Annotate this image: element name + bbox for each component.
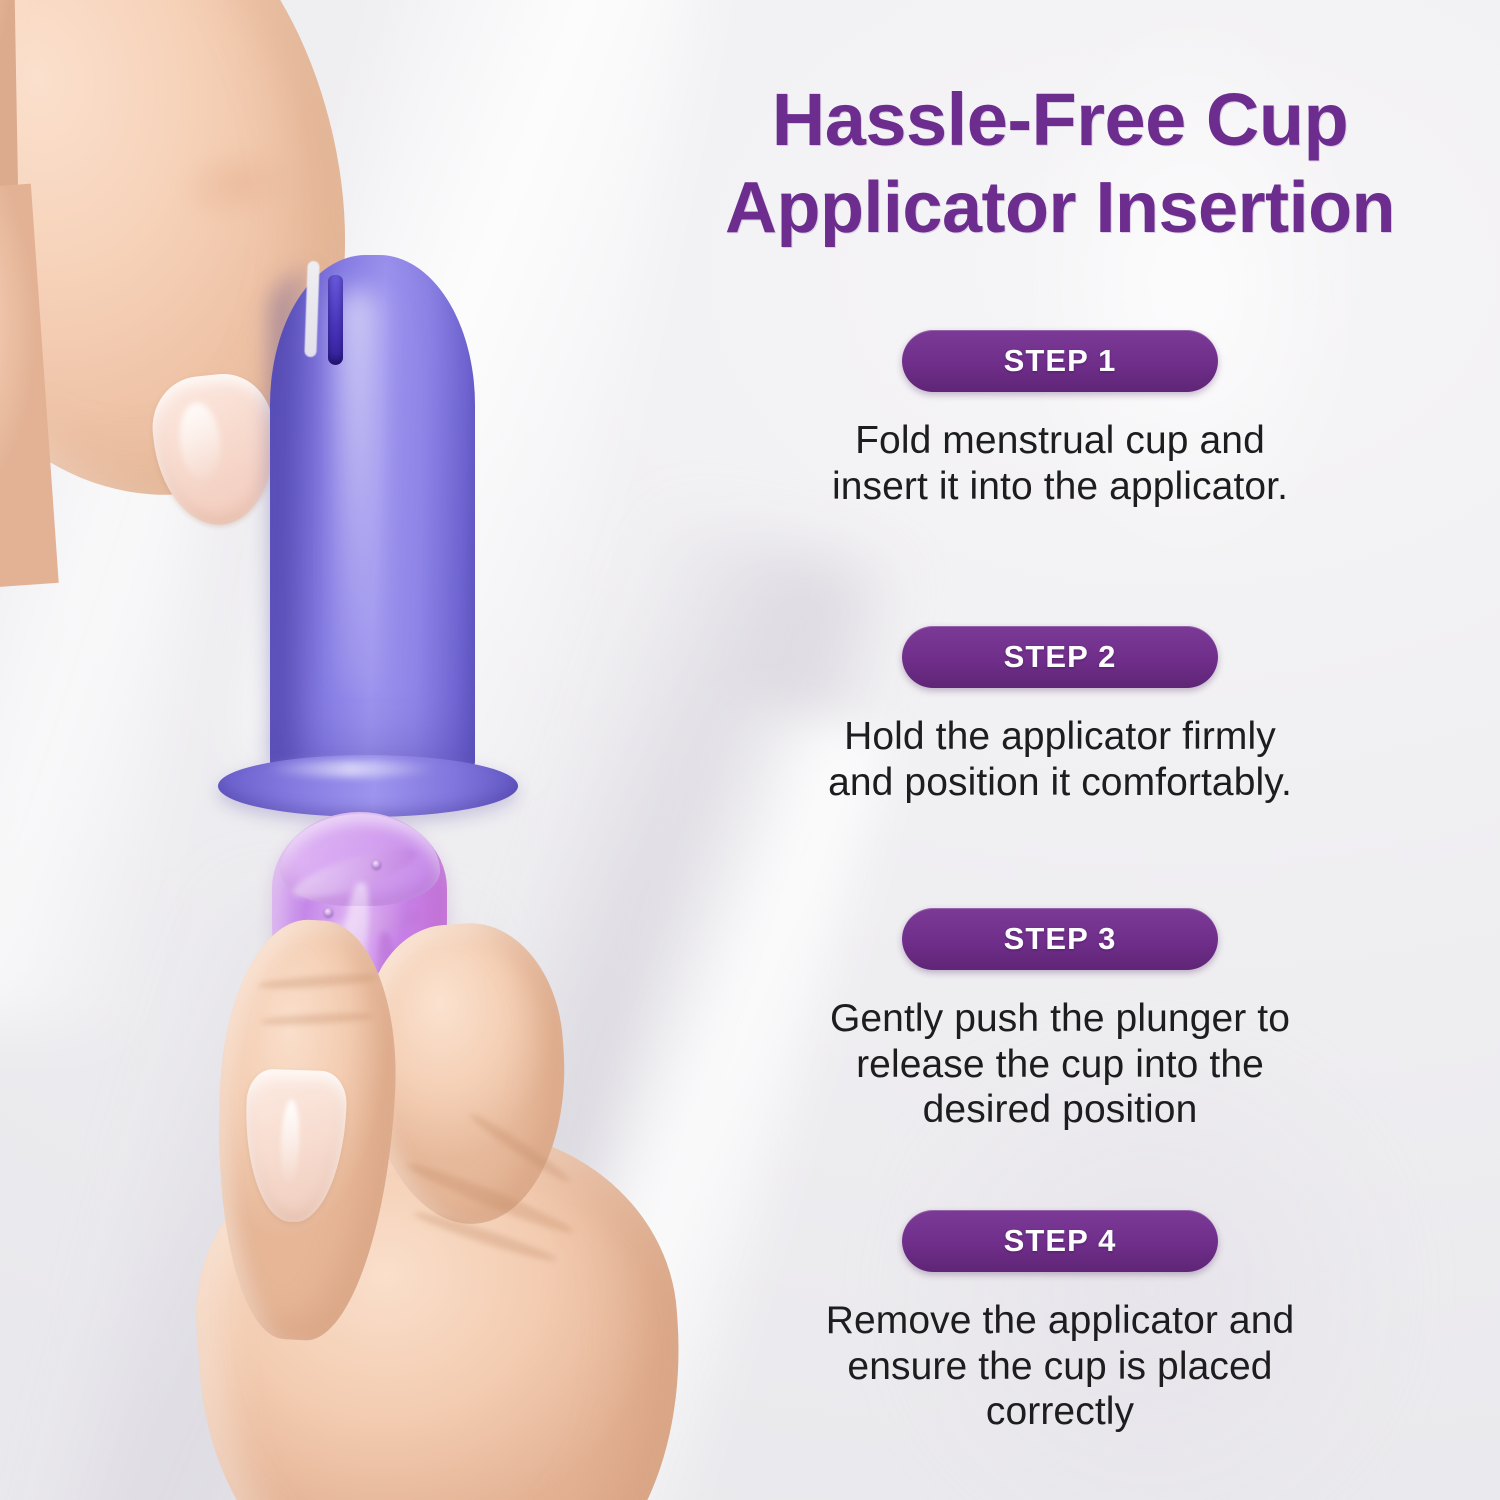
step-description-line: release the cup into the <box>710 1042 1410 1088</box>
step-description-2: Hold the applicator firmly and position … <box>710 714 1410 805</box>
page-title-line-2: Applicator Insertion <box>620 165 1500 253</box>
step-description-4: Remove the applicator and ensure the cup… <box>710 1298 1410 1435</box>
step-item-4: STEP 4 Remove the applicator and ensure … <box>620 1210 1500 1435</box>
step-description-line: Hold the applicator firmly <box>710 714 1410 760</box>
step-badge-1: STEP 1 <box>902 330 1218 392</box>
step-item-3: STEP 3 Gently push the plunger to releas… <box>620 908 1500 1133</box>
applicator-plunger-slot <box>328 275 343 365</box>
step-description-line: desired position <box>710 1087 1410 1133</box>
step-description-line: Gently push the plunger to <box>710 996 1410 1042</box>
step-description-line: and position it comfortably. <box>710 760 1410 806</box>
text-column: Hassle-Free Cup Applicator Insertion STE… <box>620 0 1500 1500</box>
step-description-line: Remove the applicator and <box>710 1298 1410 1344</box>
step-description-line: correctly <box>710 1389 1410 1435</box>
product-photo-column <box>0 0 700 1500</box>
step-badge-2: STEP 2 <box>902 626 1218 688</box>
applicator-flange-highlight <box>266 761 436 777</box>
step-description-line: Fold menstrual cup and <box>710 418 1410 464</box>
cup-applicator <box>218 255 518 815</box>
upper-hand-index-finger <box>0 579 90 1032</box>
step-item-1: STEP 1 Fold menstrual cup and insert it … <box>620 330 1500 509</box>
step-badge-4: STEP 4 <box>902 1210 1218 1272</box>
step-description-3: Gently push the plunger to release the c… <box>710 996 1410 1133</box>
step-description-line: ensure the cup is placed <box>710 1344 1410 1390</box>
step-description-1: Fold menstrual cup and insert it into th… <box>710 418 1410 509</box>
step-description-line: insert it into the applicator. <box>710 464 1410 510</box>
step-badge-3: STEP 3 <box>902 908 1218 970</box>
step-item-2: STEP 2 Hold the applicator firmly and po… <box>620 626 1500 805</box>
infographic-canvas: Hassle-Free Cup Applicator Insertion STE… <box>0 0 1500 1500</box>
cup-air-hole <box>372 860 381 869</box>
page-title-line-1: Hassle-Free Cup <box>620 75 1500 165</box>
cup-air-hole <box>324 908 333 917</box>
page-title: Hassle-Free Cup Applicator Insertion <box>620 75 1500 253</box>
